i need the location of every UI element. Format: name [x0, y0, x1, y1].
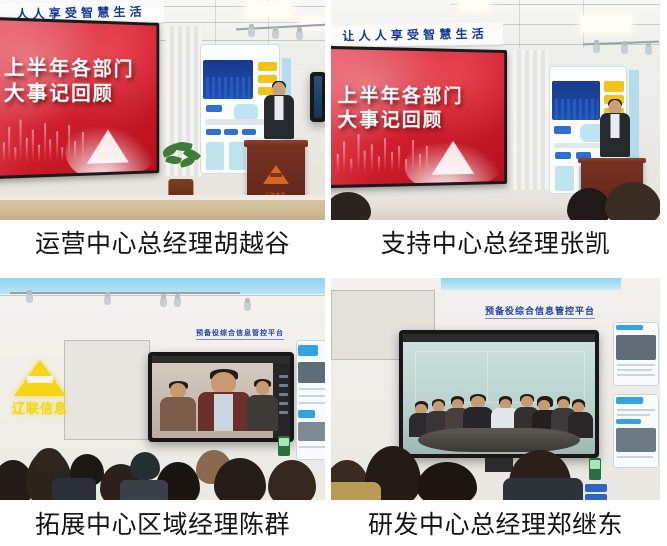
baseboard	[0, 195, 325, 200]
spotlight-icon	[272, 30, 279, 39]
video-person-head	[256, 381, 270, 395]
video-topbar	[152, 356, 290, 363]
spotlight-icon	[160, 298, 167, 307]
led-screen-title: 上半年各部门 大事记回顾	[4, 55, 135, 107]
led-screen: 上半年各部门 大事记回顾	[0, 17, 159, 179]
spotlight-icon	[593, 44, 600, 53]
video-glass-wall	[415, 351, 586, 403]
display-header-title: 预备役综合信息管控平台	[485, 304, 595, 317]
collage-row-bottom: 辽联信息 预备役综合信息管控平台	[0, 278, 667, 546]
speaker-person	[262, 82, 296, 142]
photo-3-caption: 拓展中心区域经理陈群	[0, 500, 325, 540]
photo-2-image: 让 人 人 享 受 智 慧 生 活	[331, 0, 660, 220]
wall-display-screen	[314, 76, 322, 118]
audience-shoulder	[52, 478, 96, 500]
photo-4-caption: 研发中心总经理郑继东	[331, 500, 660, 540]
podium-top	[244, 140, 308, 147]
audience-head	[605, 182, 660, 220]
photo-collage-page: 人 人 享 受 智 慧 生 活	[0, 0, 667, 546]
led-title-line-2: 大事记回顾	[338, 109, 464, 133]
video-person-head	[170, 383, 187, 398]
video-glass-mullion	[487, 351, 488, 401]
board-chip	[206, 105, 222, 112]
audience-foreground	[331, 150, 660, 220]
photo-cell-3: 辽联信息 预备役综合信息管控平台	[0, 278, 325, 540]
ceiling-grid-line	[215, 0, 216, 46]
board-chip	[242, 129, 256, 136]
potted-plant	[160, 142, 202, 202]
wall-poster	[613, 322, 659, 386]
photo-cell-2: 让 人 人 享 受 智 慧 生 活	[331, 0, 660, 259]
video-person-head	[521, 396, 533, 407]
poster-image	[298, 362, 325, 384]
board-chip	[206, 129, 220, 136]
wall-banner-text: 让 人 人 享 受 智 慧 生 活	[331, 22, 503, 49]
floor	[0, 198, 325, 220]
poster-image	[616, 335, 656, 361]
audience-shoulder	[120, 480, 168, 500]
poster-header	[298, 345, 318, 356]
spotlight-icon	[26, 294, 33, 303]
ceiling-grid-line	[160, 6, 325, 7]
audience-shoulder	[331, 482, 381, 500]
wall-display	[310, 72, 325, 122]
led-screen-surface: 上半年各部门 大事记回顾	[0, 20, 157, 176]
led-screen-title: 上半年各部门 大事记回顾	[338, 84, 464, 133]
spotlight-icon	[104, 296, 111, 305]
led-title-line-1: 上半年各部门	[4, 55, 135, 81]
audience-head	[268, 460, 316, 500]
poster-header	[616, 397, 644, 404]
ceiling-grid-line	[150, 22, 325, 23]
audience-head	[214, 458, 266, 500]
audience-shoulder	[503, 478, 583, 500]
audience-head	[130, 452, 160, 480]
logo-triangle-icon	[263, 165, 289, 184]
ceiling-blue-band	[441, 278, 621, 290]
board-city-graphic	[552, 81, 600, 119]
audience-head	[34, 448, 64, 474]
ceiling-light	[581, 16, 631, 32]
board-chip	[604, 81, 624, 91]
board-chip	[258, 62, 277, 71]
board-city-graphic	[203, 60, 253, 99]
person-shirt	[611, 114, 620, 138]
spotlight-icon	[174, 298, 181, 307]
ceiling-grid-line	[519, 0, 520, 48]
spotlight-icon	[248, 28, 255, 37]
person-shirt	[275, 96, 284, 120]
board-chip	[224, 129, 238, 136]
video-person-head	[211, 372, 236, 393]
light-track	[10, 292, 240, 294]
photo-1-caption: 运营中心总经理胡越谷	[0, 220, 325, 259]
audience-head	[331, 192, 371, 220]
video-topbar	[403, 334, 595, 342]
led-title-line-2: 大事记回顾	[4, 80, 135, 106]
board-chip	[206, 142, 224, 171]
photo-3-image: 辽联信息 预备役综合信息管控平台	[0, 278, 325, 500]
ceiling-light	[459, 0, 489, 10]
spotlight-icon	[621, 45, 628, 54]
led-title-line-1: 上半年各部门	[338, 84, 464, 107]
audience-foreground	[0, 398, 325, 500]
logo-triangle-icon	[14, 360, 66, 396]
audience-foreground	[331, 411, 660, 500]
spotlight-icon	[645, 46, 652, 55]
ceiling-light	[246, 2, 292, 16]
screen-peak-graphic	[87, 129, 129, 163]
collage-row-top: 人 人 享 受 智 慧 生 活	[0, 0, 667, 258]
photo-cell-4: 预备役综合信息管控平台	[331, 278, 660, 540]
display-header-title: 预备役综合信息管控平台	[196, 328, 284, 338]
spotlight-icon	[296, 31, 303, 40]
photo-4-image: 预备役综合信息管控平台	[331, 278, 660, 500]
spotlight-icon	[244, 302, 251, 311]
photo-cell-1: 人 人 享 受 智 慧 生 活	[0, 0, 325, 259]
board-chip	[234, 104, 258, 121]
poster-header	[616, 325, 644, 331]
audience-head	[417, 462, 477, 500]
photo-2-caption: 支持中心总经理张凯	[331, 220, 660, 259]
board-chip	[554, 126, 571, 134]
photo-1-image: 人 人 享 受 智 慧 生 活	[0, 0, 325, 220]
